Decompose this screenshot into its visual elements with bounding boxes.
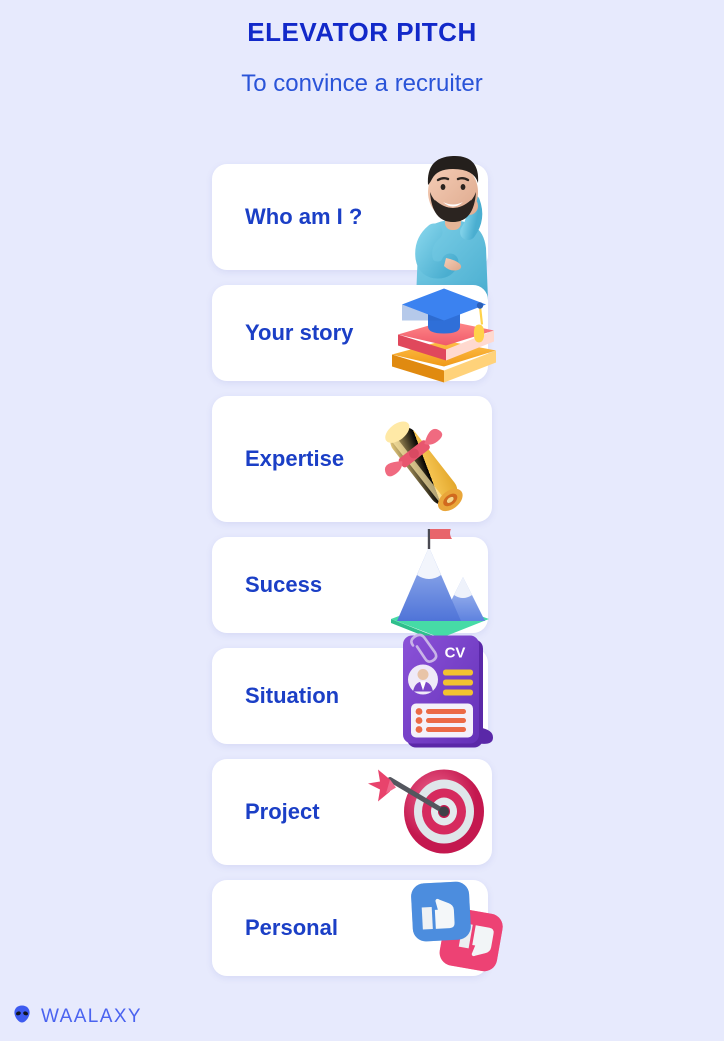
graduation-cap-books-icon: [376, 277, 506, 390]
list-item[interactable]: Situation CV: [212, 648, 488, 744]
card-label: Expertise: [245, 446, 344, 472]
card-label: Situation: [245, 683, 339, 709]
brand-footer: WAALAXY: [12, 1004, 142, 1029]
list-item[interactable]: Who am I ?: [212, 164, 488, 270]
list-item[interactable]: Sucess: [212, 537, 488, 633]
page-title: ELEVATOR PITCH: [0, 17, 724, 48]
person-pointing-icon: [390, 140, 510, 305]
list-item[interactable]: Project: [212, 759, 492, 865]
list-item[interactable]: Personal: [212, 880, 488, 976]
card-label: Your story: [245, 320, 353, 346]
page-subtitle: To convince a recruiter: [0, 70, 724, 98]
dartboard-arrow-icon: [366, 758, 496, 867]
card-label: Personal: [245, 915, 338, 941]
card-label: Project: [245, 799, 320, 825]
diploma-scroll-icon: [370, 394, 500, 524]
card-label: Who am I ?: [245, 204, 362, 230]
list-item[interactable]: Expertise: [212, 396, 492, 522]
mountain-flag-icon: [381, 529, 496, 646]
alien-head-icon: [12, 1004, 32, 1029]
cv-heading-text: CV: [445, 645, 466, 662]
card-list: Who am I ?: [212, 164, 512, 991]
card-label: Sucess: [245, 572, 322, 598]
thumbs-up-down-icon: [398, 867, 518, 990]
list-item[interactable]: Your story: [212, 285, 488, 381]
cv-document-icon: CV: [395, 632, 500, 761]
brand-name: WAALAXY: [41, 1006, 142, 1028]
